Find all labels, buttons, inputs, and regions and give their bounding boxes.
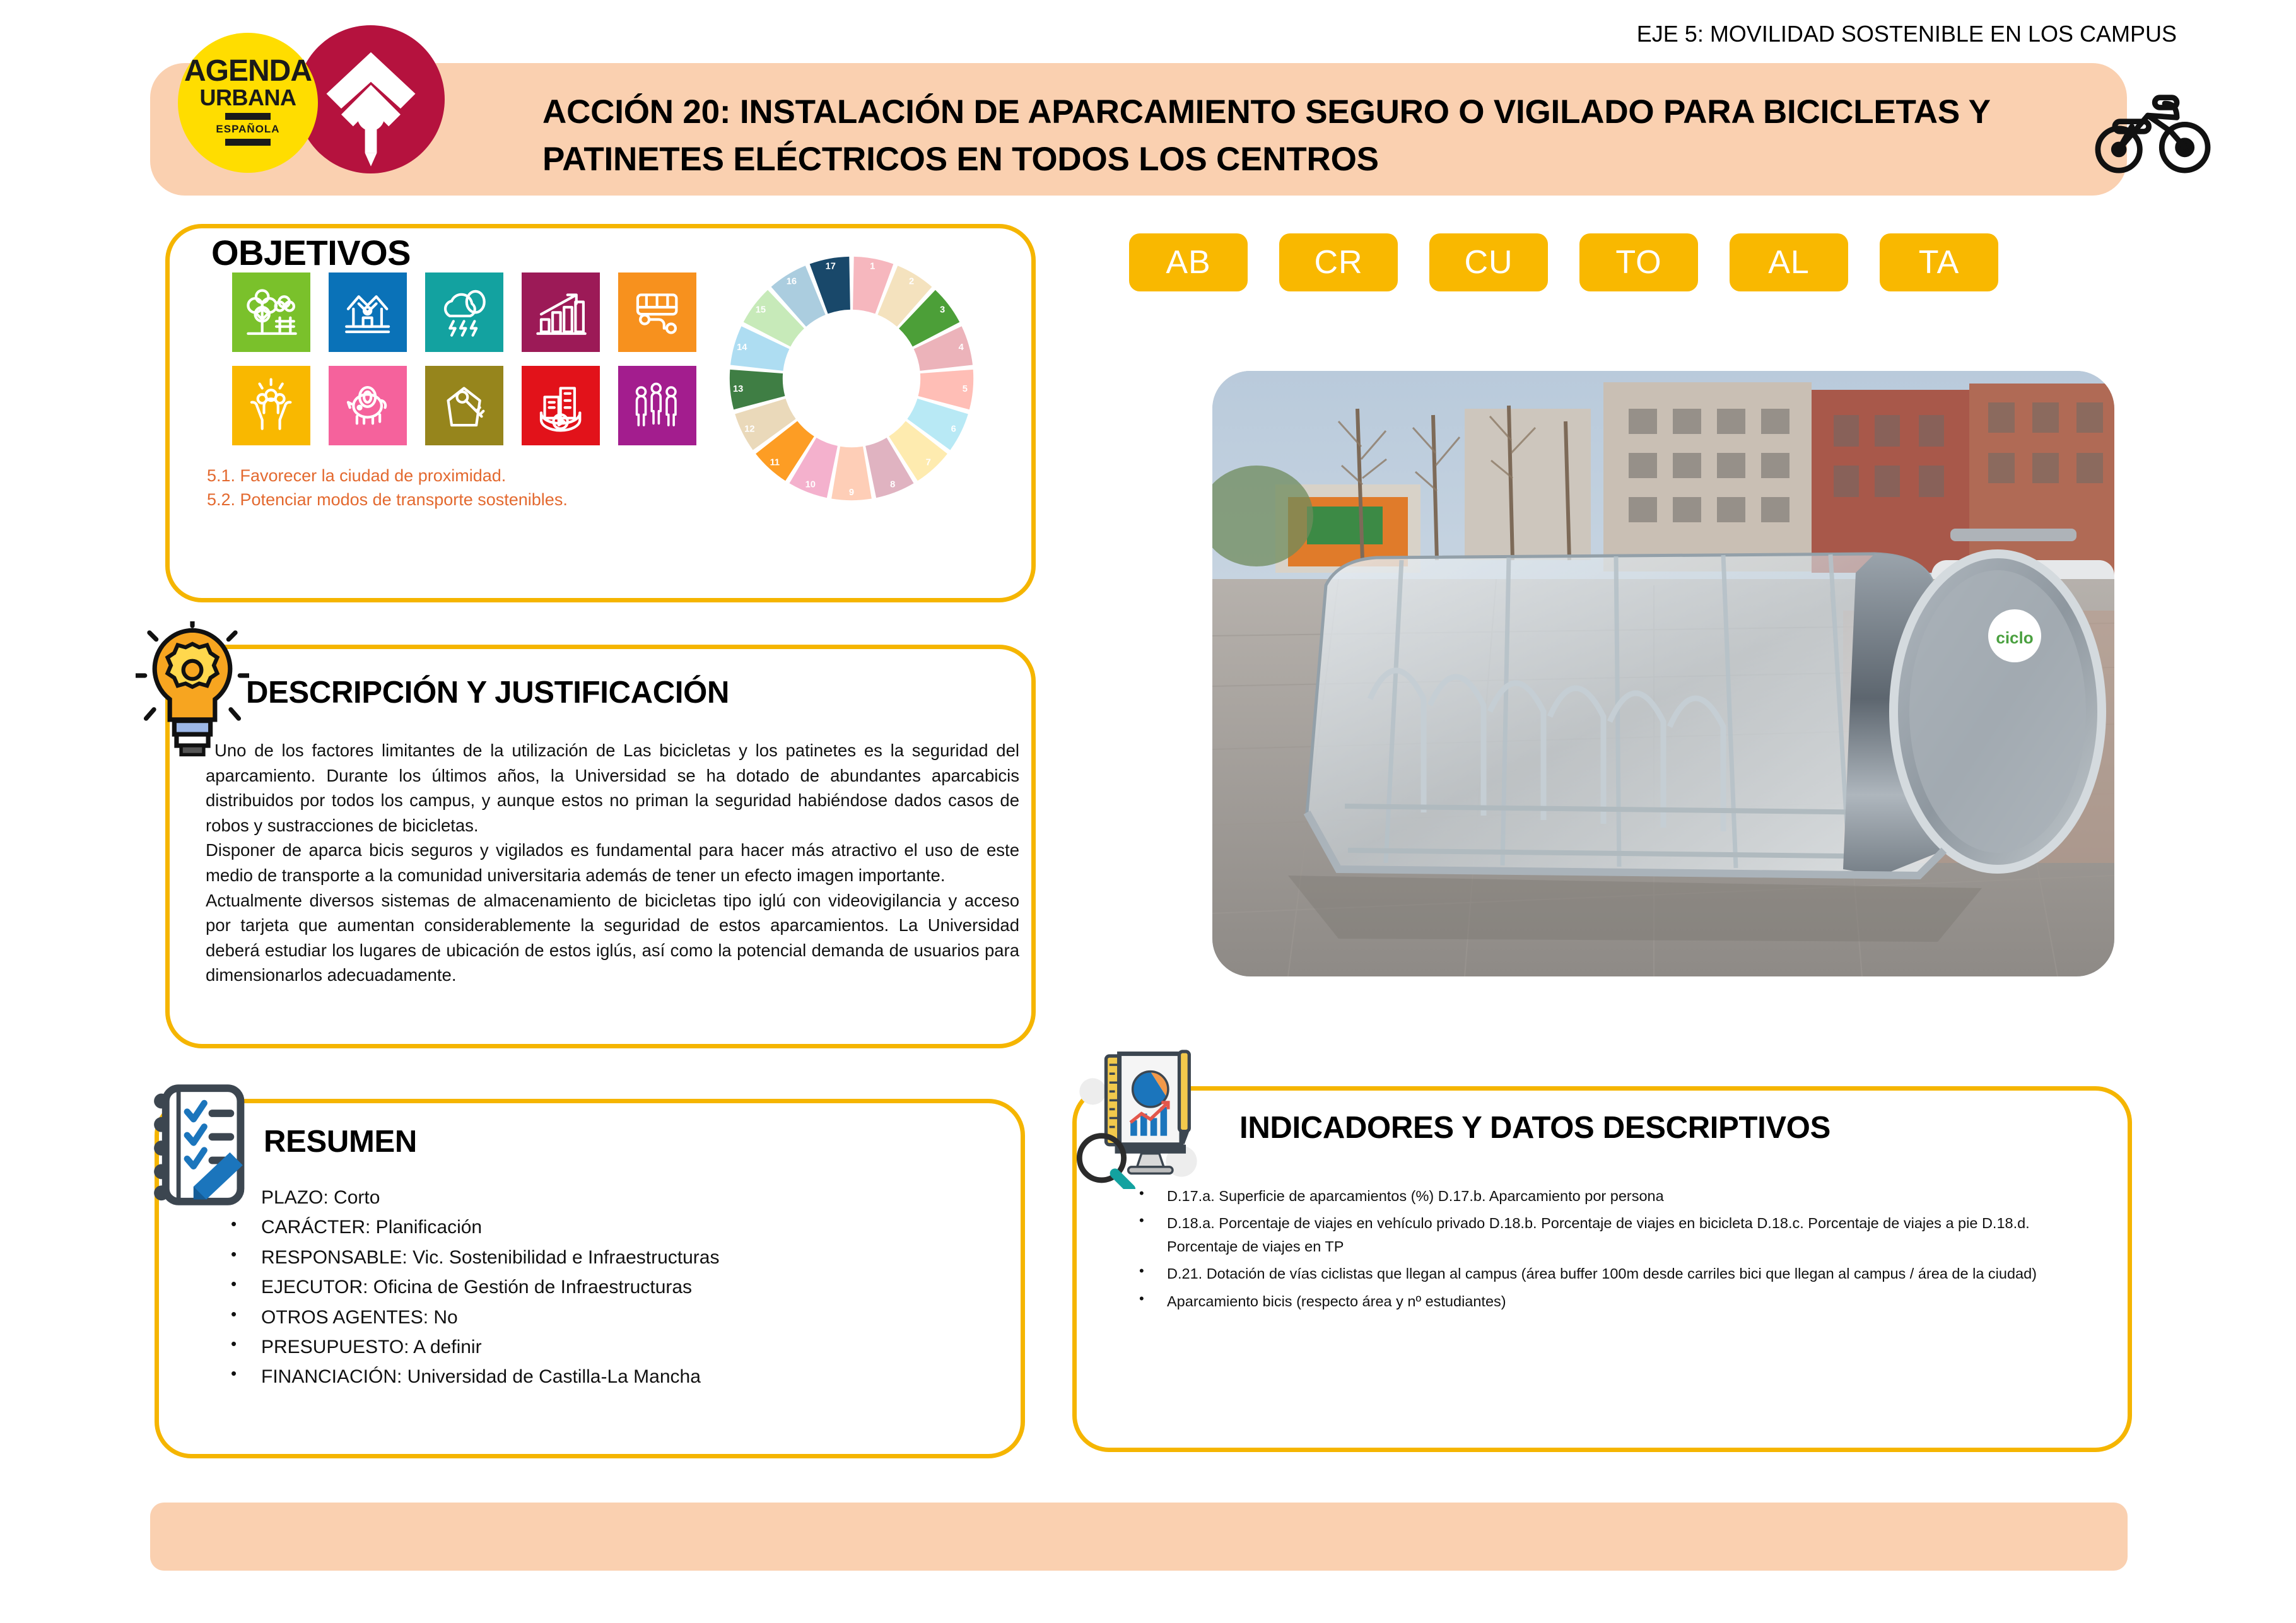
bike-shelter-photo: ciclo xyxy=(1212,371,2114,976)
campus-tag-al[interactable]: AL xyxy=(1730,233,1848,291)
sdg-number-17: 17 xyxy=(826,262,836,272)
campus-tag-cu[interactable]: CU xyxy=(1429,233,1548,291)
objetivo-line-2: 5.2. Potenciar modos de transporte soste… xyxy=(207,488,568,512)
community-people-icon xyxy=(618,366,696,445)
footer-bar xyxy=(150,1503,2128,1571)
monitor-analytics-icon xyxy=(1072,1047,1217,1189)
logo-line-3: ESPAÑOLA xyxy=(216,123,279,136)
agenda-urbana-logo: AGENDA URBANA ESPAÑOLA xyxy=(178,33,318,173)
logo-line-2: URBANA xyxy=(200,86,296,110)
indicadores-heading: INDICADORES Y DATOS DESCRIPTIVOS xyxy=(1239,1110,1830,1145)
footer-text: EJE 5: MOVILIDAD SOSTENIBLE EN LOS CAMPU… xyxy=(1637,0,2295,68)
logo-divider-bottom xyxy=(225,139,271,146)
sdg-number-13: 13 xyxy=(733,384,743,394)
housing-icon xyxy=(329,272,407,352)
descripcion-paragraph-1: Uno de los factores limitantes de la uti… xyxy=(206,738,1019,838)
sdg-number-4: 4 xyxy=(959,343,964,353)
poster-page: AGENDA URBANA ESPAÑOLA ACCIÓN 20: INSTAL… xyxy=(0,0,2296,1623)
hands-people-icon xyxy=(232,366,310,445)
sdg-number-1: 1 xyxy=(870,262,875,272)
bicycle-icon xyxy=(2093,88,2213,177)
page-title: ACCIÓN 20: INSTALACIÓN DE APARCAMIENTO S… xyxy=(542,88,1993,184)
campus-tag-list: AB CR CU TO AL TA xyxy=(1129,233,1998,291)
descripcion-body: Uno de los factores limitantes de la uti… xyxy=(206,738,1019,988)
indicadores-list: D.17.a. Superficie de aparcamientos (%) … xyxy=(1129,1185,2037,1317)
objetivos-lines: 5.1. Favorecer la ciudad de proximidad. … xyxy=(207,464,568,512)
campus-tag-cr[interactable]: CR xyxy=(1279,233,1398,291)
indicador-item-d21: D.21. Dotación de vías ciclistas que lle… xyxy=(1129,1262,2037,1285)
sdg-number-7: 7 xyxy=(926,458,931,468)
resumen-item-presupuesto: PRESUPUESTO: A definir xyxy=(222,1332,947,1362)
descripcion-paragraph-2: Disponer de aparca bicis seguros y vigil… xyxy=(206,838,1019,888)
descripcion-heading: DESCRIPCIÓN Y JUSTIFICACIÓN xyxy=(246,675,729,710)
notepad-checklist-icon xyxy=(146,1082,254,1208)
resumen-list: PLAZO: Corto CARÁCTER: Planificación RES… xyxy=(222,1183,947,1392)
indicador-item-d17: D.17.a. Superficie de aparcamientos (%) … xyxy=(1129,1185,2037,1207)
house-keys-icon xyxy=(425,366,503,445)
sdg-number-3: 3 xyxy=(940,305,945,315)
svg-text:ciclo: ciclo xyxy=(1996,628,2033,647)
resumen-item-ejecutor: EJECUTOR: Oficina de Gestión de Infraest… xyxy=(222,1272,947,1302)
bus-mobility-icon xyxy=(618,272,696,352)
sdg-number-11: 11 xyxy=(770,458,780,468)
sdg-number-8: 8 xyxy=(890,480,895,490)
campus-tag-to[interactable]: TO xyxy=(1579,233,1698,291)
objetivo-line-1: 5.1. Favorecer la ciudad de proximidad. xyxy=(207,464,568,488)
park-trees-icon xyxy=(232,272,310,352)
campus-tag-ab[interactable]: AB xyxy=(1129,233,1248,291)
sdg-number-15: 15 xyxy=(756,305,766,315)
sdg-number-16: 16 xyxy=(787,277,797,287)
logo-divider-top xyxy=(225,113,271,120)
sdg-number-6: 6 xyxy=(951,425,956,435)
agenda-urbana-badge xyxy=(296,25,445,173)
resumen-item-otros-agentes: OTROS AGENTES: No xyxy=(222,1303,947,1332)
lightbulb-gear-icon xyxy=(136,621,249,757)
piggy-bank-icon xyxy=(329,366,407,445)
sdg-number-14: 14 xyxy=(737,343,747,353)
logo-line-1: AGENDA xyxy=(184,57,312,86)
climate-storm-icon xyxy=(425,272,503,352)
indicador-item-aparcamiento: Aparcamiento bicis (respecto área y nº e… xyxy=(1129,1290,2037,1313)
city-buildings-icon xyxy=(522,366,600,445)
indicador-item-d18: D.18.a. Porcentaje de viajes en vehículo… xyxy=(1129,1212,2037,1258)
sdg-number-5: 5 xyxy=(963,384,968,394)
descripcion-paragraph-3: Actualmente diversos sistemas de almacen… xyxy=(206,888,1019,988)
growth-chart-icon xyxy=(522,272,600,352)
resumen-heading: RESUMEN xyxy=(264,1124,417,1159)
sdg-wheel-icon: 1234567891011121314151617 xyxy=(719,246,984,511)
sdg-number-2: 2 xyxy=(909,277,914,287)
resumen-item-responsable: RESPONSABLE: Vic. Sostenibilidad e Infra… xyxy=(222,1243,947,1272)
resumen-item-financiacion: FINANCIACIÓN: Universidad de Castilla-La… xyxy=(222,1362,947,1392)
objetivos-heading: OBJETIVOS xyxy=(211,232,411,273)
objetivos-icon-grid xyxy=(232,272,696,445)
broadcast-signal-icon xyxy=(296,25,445,173)
sdg-number-9: 9 xyxy=(849,488,854,498)
resumen-item-plazo: PLAZO: Corto xyxy=(222,1183,947,1212)
campus-tag-ta[interactable]: TA xyxy=(1880,233,1998,291)
sdg-number-12: 12 xyxy=(744,425,754,435)
sdg-number-10: 10 xyxy=(805,480,816,490)
resumen-item-caracter: CARÁCTER: Planificación xyxy=(222,1212,947,1242)
